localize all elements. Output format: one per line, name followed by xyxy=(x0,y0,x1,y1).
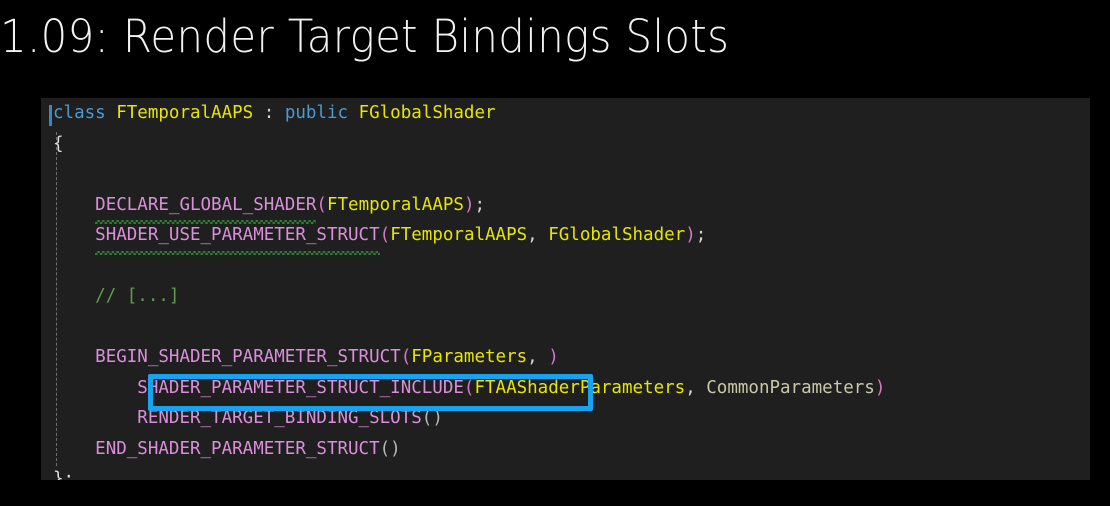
code-line[interactable]: { xyxy=(41,129,1090,160)
code-token: , xyxy=(527,347,548,367)
code-token: , xyxy=(685,378,706,398)
code-token: FParameters xyxy=(411,347,527,367)
code-line[interactable] xyxy=(41,312,1090,343)
code-token xyxy=(348,103,359,123)
slide: 1.09: Render Target Bindings Slots class… xyxy=(0,0,1110,506)
code-token: () xyxy=(380,439,401,459)
code-token: ( xyxy=(316,195,327,215)
code-line[interactable]: }; xyxy=(41,464,1090,480)
code-indent xyxy=(53,195,95,215)
code-token: ) xyxy=(685,225,696,245)
code-token: () xyxy=(422,408,443,428)
code-token: // [...] xyxy=(95,286,179,306)
code-token: ( xyxy=(401,347,412,367)
code-token: SHADER_PARAMETER_STRUCT_INCLUDE xyxy=(137,378,464,398)
code-token: FTemporalAAPS xyxy=(327,195,464,215)
code-line[interactable]: DECLARE_GLOBAL_SHADER(FTemporalAAPS); xyxy=(41,190,1090,221)
code-token: , xyxy=(527,225,548,245)
code-token: { xyxy=(53,134,64,154)
code-line[interactable]: // [...] xyxy=(41,281,1090,312)
code-token: BEGIN_SHADER_PARAMETER_STRUCT xyxy=(95,347,401,367)
code-indent xyxy=(53,439,95,459)
code-token: END_SHADER_PARAMETER_STRUCT xyxy=(95,439,379,459)
code-token: FTemporalAAPS xyxy=(116,103,253,123)
code-block[interactable]: class FTemporalAAPS : public FGlobalShad… xyxy=(41,98,1090,480)
code-line[interactable] xyxy=(41,251,1090,282)
code-token: FGlobalShader xyxy=(548,225,685,245)
code-line[interactable]: BEGIN_SHADER_PARAMETER_STRUCT(FParameter… xyxy=(41,342,1090,373)
code-token: ) xyxy=(464,195,475,215)
code-line[interactable] xyxy=(41,159,1090,190)
code-indent xyxy=(53,286,95,306)
code-token: ; xyxy=(474,195,485,215)
code-token: ; xyxy=(696,225,707,245)
code-token: ) xyxy=(548,347,559,367)
code-token xyxy=(106,103,117,123)
code-token: CommonParameters xyxy=(706,378,875,398)
code-line[interactable]: RENDER_TARGET_BINDING_SLOTS() xyxy=(41,403,1090,434)
code-token: ) xyxy=(875,378,886,398)
code-token: DECLARE_GLOBAL_SHADER xyxy=(95,190,316,221)
code-indent xyxy=(53,225,95,245)
code-line[interactable]: SHADER_PARAMETER_STRUCT_INCLUDE(FTAAShad… xyxy=(41,373,1090,404)
code-token: ( xyxy=(380,225,391,245)
code-token: RENDER_TARGET_BINDING_SLOTS xyxy=(137,408,421,428)
code-token: FTemporalAAPS xyxy=(390,225,527,245)
code-indent xyxy=(53,378,137,398)
code-line[interactable]: SHADER_USE_PARAMETER_STRUCT(FTemporalAAP… xyxy=(41,220,1090,251)
code-token: FGlobalShader xyxy=(359,103,496,123)
code-indent xyxy=(53,408,137,428)
code-token: public xyxy=(285,103,348,123)
code-token: SHADER_USE_PARAMETER_STRUCT xyxy=(95,220,379,251)
code-token: : xyxy=(253,103,285,123)
code-token: FTAAShaderParameters xyxy=(474,378,685,398)
code-token: ( xyxy=(464,378,475,398)
code-indent xyxy=(53,347,95,367)
code-token: class xyxy=(53,103,106,123)
page-title: 1.09: Render Target Bindings Slots xyxy=(0,0,1014,76)
code-line[interactable]: END_SHADER_PARAMETER_STRUCT() xyxy=(41,434,1090,465)
code-panel: class FTemporalAAPS : public FGlobalShad… xyxy=(41,98,1090,480)
code-line[interactable]: class FTemporalAAPS : public FGlobalShad… xyxy=(41,98,1090,129)
code-token: }; xyxy=(53,469,74,480)
